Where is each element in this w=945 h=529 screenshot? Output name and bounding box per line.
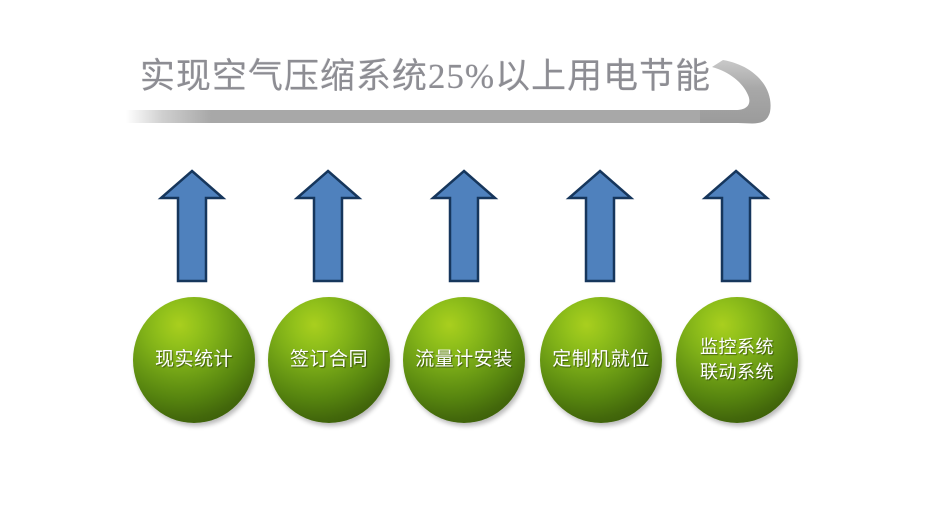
process-node-label-3: 流量计安装 [411,347,517,373]
process-node-label-5-line-2: 联动系统 [700,362,774,382]
slide-canvas: 实现空气压缩系统25%以上用电节能 现实统计 签订合同 流量计安装 定制机就位 [0,0,945,529]
banner-underline [126,110,735,123]
process-node-4[interactable]: 定制机就位 [540,297,662,423]
process-node-label-5: 监控系统 联动系统 [696,335,778,385]
process-node-label-2: 签订合同 [286,347,372,373]
process-node-3[interactable]: 流量计安装 [403,297,525,423]
process-node-label-4: 定制机就位 [548,347,654,373]
process-node-1[interactable]: 现实统计 [133,297,255,423]
up-arrow-icon-1 [158,168,226,284]
page-title: 实现空气压缩系统25%以上用电节能 [140,50,760,104]
process-node-5[interactable]: 监控系统 联动系统 [676,297,798,423]
up-arrow-icon-5 [702,168,770,284]
process-node-label-5-line-1: 监控系统 [700,337,774,357]
up-arrow-icon-4 [566,168,634,284]
up-arrow-icon-3 [430,168,498,284]
process-node-label-1: 现实统计 [151,347,237,373]
process-node-2[interactable]: 签订合同 [268,297,390,423]
up-arrow-icon-2 [294,168,362,284]
